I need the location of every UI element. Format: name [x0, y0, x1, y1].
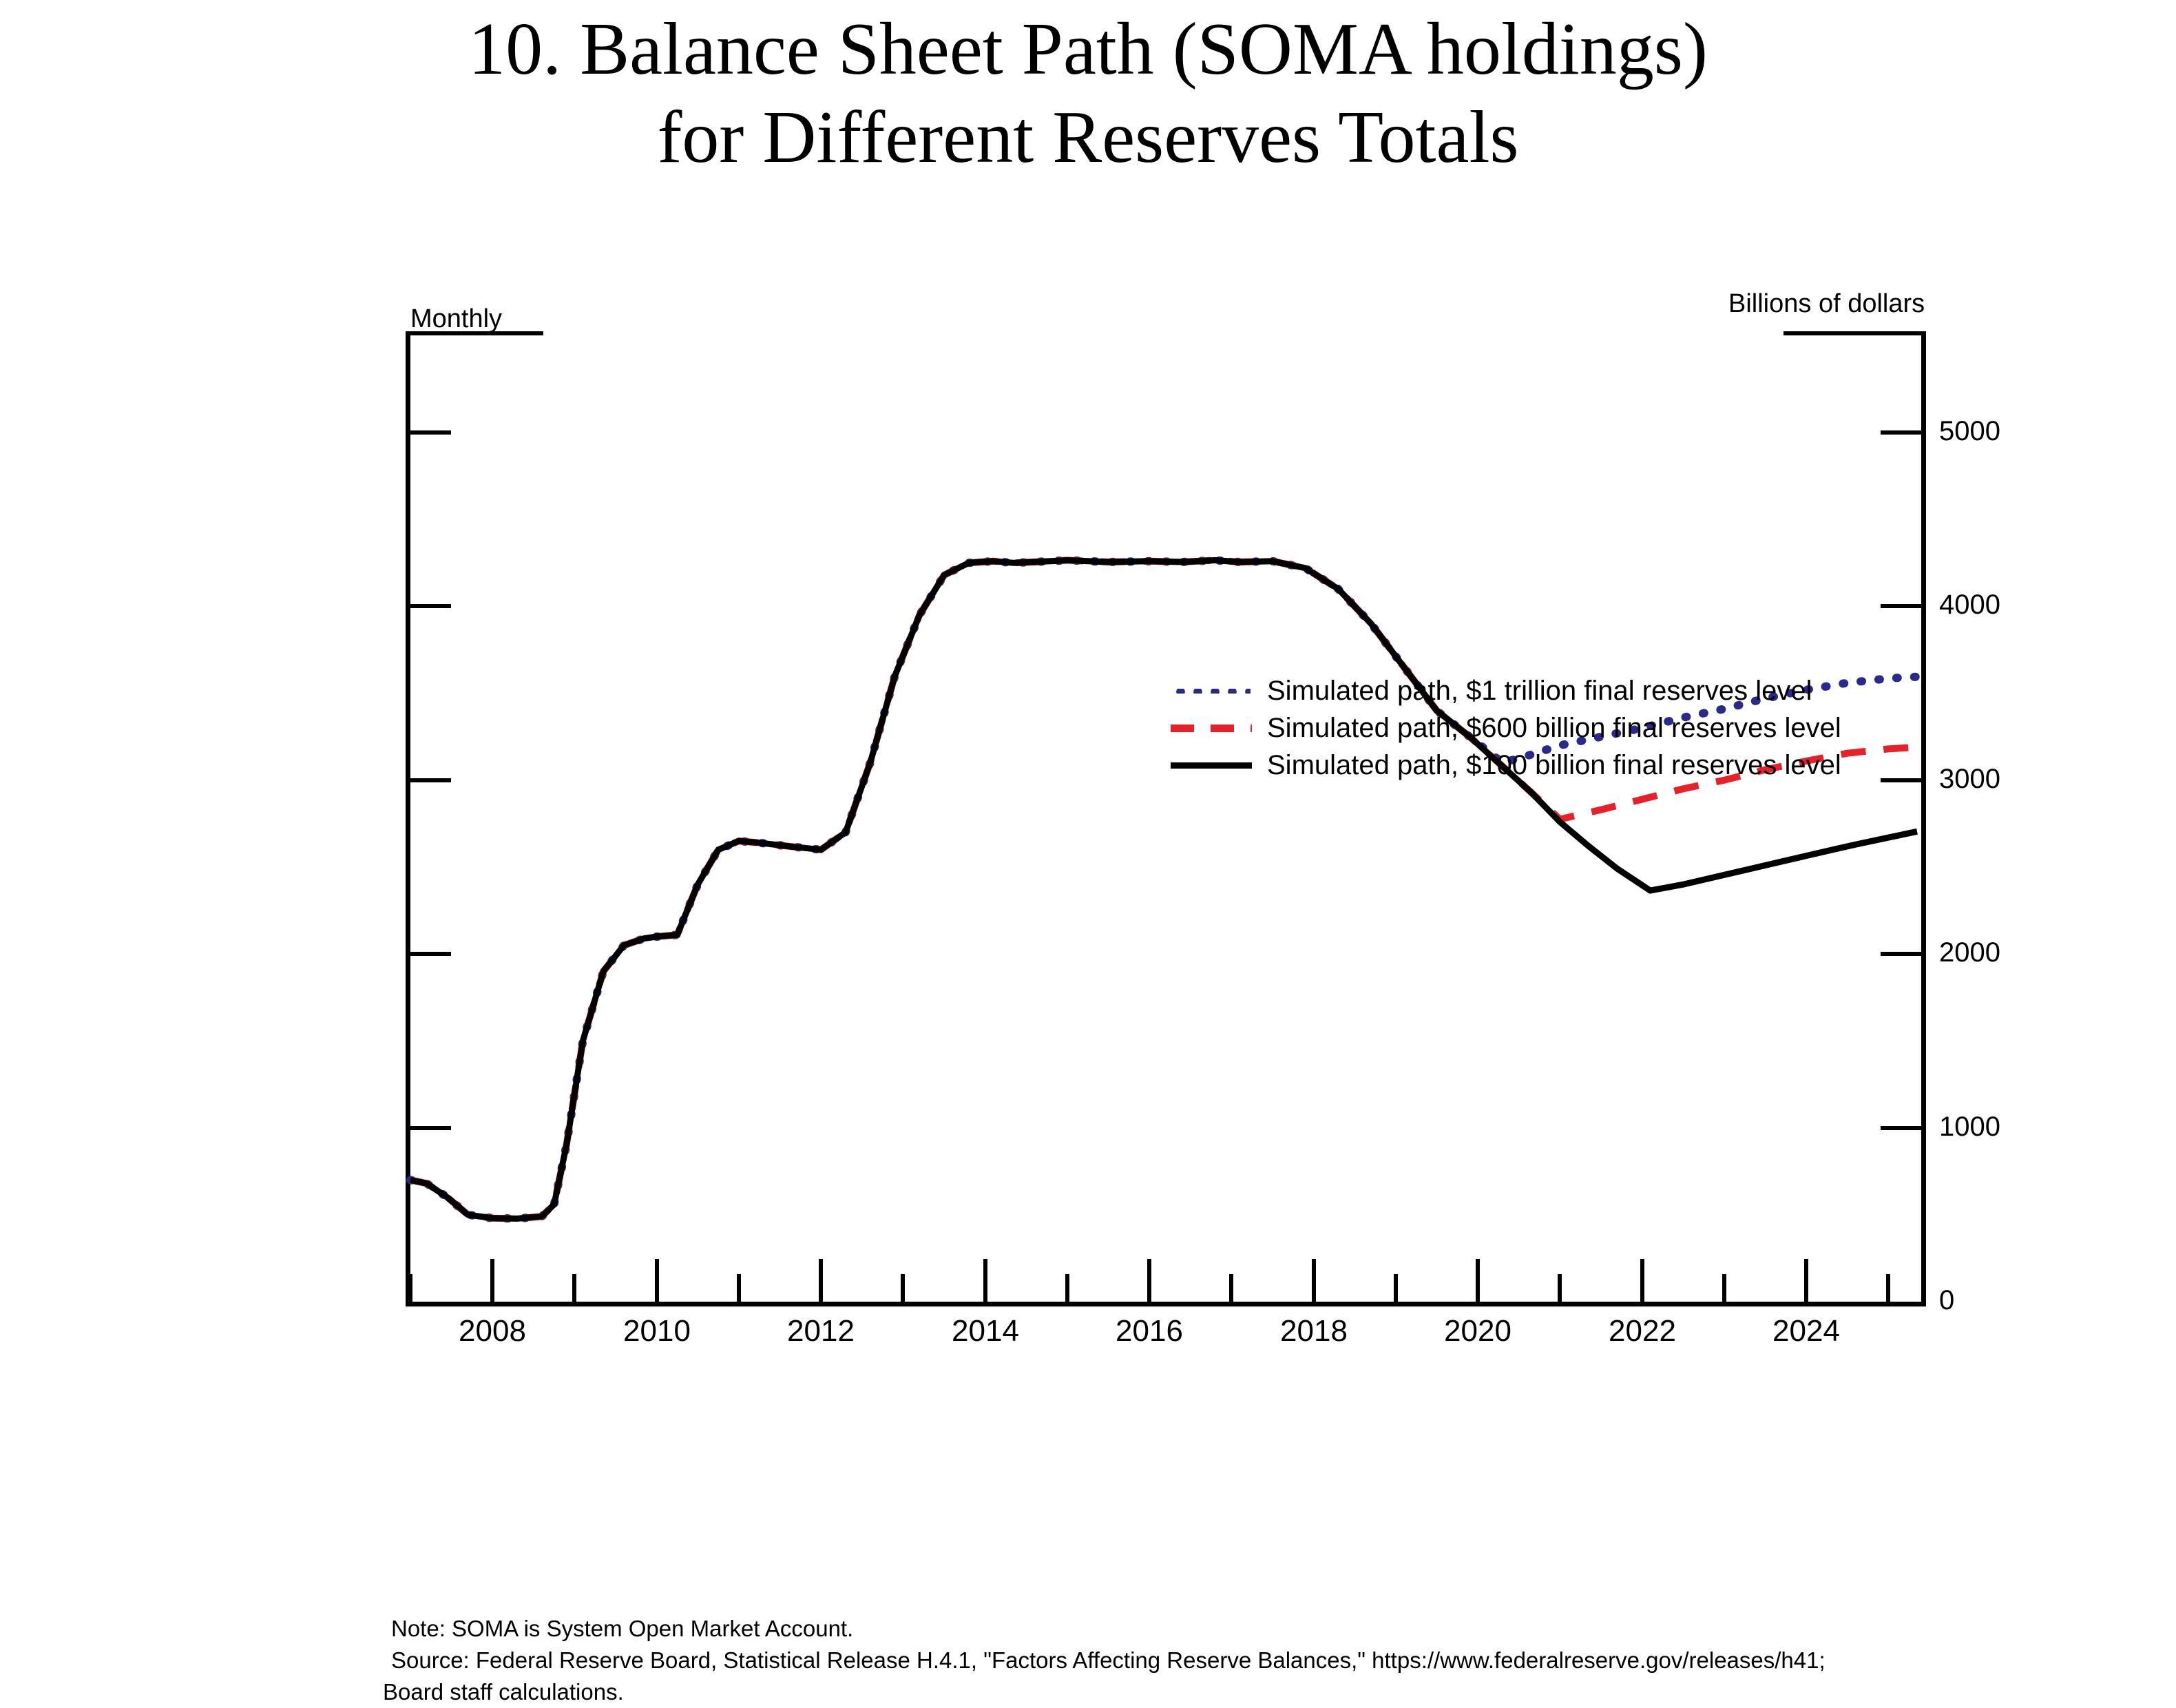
top-left-rule [406, 331, 543, 335]
y-tick-left [406, 604, 451, 608]
x-tick-major [490, 1259, 494, 1302]
y-tick-left [406, 430, 451, 435]
y-tick-left [406, 1126, 451, 1130]
legend-item-one-hundred: Simulated path, $100 billion final reser… [1171, 748, 1841, 782]
x-tick-label: 2008 [441, 1314, 544, 1348]
dotted-line-icon [1171, 682, 1252, 700]
x-tick-minor [737, 1274, 741, 1302]
y-tick-label: 1000 [1939, 1112, 2000, 1143]
x-tick-minor [1229, 1274, 1233, 1302]
legend-item-six-hundred: Simulated path, $600 billion final reser… [1171, 711, 1841, 745]
x-tick-minor [1558, 1274, 1562, 1302]
top-right-rule [1783, 331, 1926, 335]
x-tick-major [1640, 1259, 1644, 1302]
x-tick-label: 2020 [1426, 1314, 1529, 1348]
dashed-line-icon [1171, 719, 1252, 737]
y-tick-right [1881, 952, 1926, 956]
legend-label-six-hundred: Simulated path, $600 billion final reser… [1267, 714, 1841, 742]
source-line-continued: Board staff calculations. [383, 1676, 2104, 1708]
y-tick-label: 0 [1939, 1285, 1954, 1316]
x-tick-minor [1722, 1274, 1726, 1302]
series-line-2 [410, 561, 1917, 1219]
axes-group [406, 331, 1926, 1306]
x-tick-label: 2012 [769, 1314, 872, 1348]
x-tick-major [1476, 1259, 1480, 1302]
x-tick-label: 2018 [1262, 1314, 1366, 1348]
page-title: 10. Balance Sheet Path (SOMA holdings) f… [0, 6, 2176, 182]
x-tick-label: 2010 [605, 1314, 709, 1348]
x-tick-minor [572, 1274, 576, 1302]
slide-root: 10. Balance Sheet Path (SOMA holdings) f… [0, 0, 2176, 1439]
y-tick-label: 3000 [1939, 764, 2000, 795]
title-line-2: for Different Reserves Totals [0, 94, 2176, 182]
chart-notes: Note: SOMA is System Open Market Account… [383, 1613, 2104, 1708]
note-line: Note: SOMA is System Open Market Account… [383, 1613, 2104, 1645]
x-tick-label: 2022 [1591, 1314, 1694, 1348]
x-tick-major [819, 1259, 823, 1302]
chart-figure: Monthly Billions of dollars 010002000300… [0, 275, 2176, 1439]
solid-line-icon [1171, 756, 1252, 774]
y-tick-right [1881, 1126, 1926, 1130]
x-tick-label: 2024 [1755, 1314, 1858, 1348]
y-tick-left [406, 778, 451, 782]
y-tick-label: 4000 [1939, 590, 2000, 621]
y-tick-label: 2000 [1939, 937, 2000, 968]
x-tick-minor [1065, 1274, 1069, 1302]
series-line-0 [410, 561, 1917, 1219]
legend-label-trillion: Simulated path, $1 trillion final reserv… [1267, 677, 1812, 705]
x-tick-minor [1394, 1274, 1398, 1302]
x-tick-major [655, 1259, 659, 1302]
x-tick-minor [408, 1274, 412, 1302]
y-axis-left-spine [406, 331, 410, 1306]
x-tick-major [1804, 1259, 1808, 1302]
series-line-1 [410, 561, 1917, 1219]
x-tick-label: 2014 [934, 1314, 1037, 1348]
plot-area [0, 275, 2176, 1439]
title-line-1: 10. Balance Sheet Path (SOMA holdings) [0, 6, 2176, 94]
x-tick-major [983, 1259, 987, 1302]
y-tick-right [1881, 430, 1926, 435]
y-tick-right [1881, 604, 1926, 608]
x-axis-spine [406, 1302, 1926, 1306]
legend-item-trillion: Simulated path, $1 trillion final reserv… [1171, 674, 1841, 708]
series-group [410, 561, 1917, 1219]
y-axis-right-spine [1921, 331, 1926, 1306]
y-tick-label: 5000 [1939, 416, 2000, 447]
x-tick-minor [901, 1274, 905, 1302]
y-tick-right [1881, 778, 1926, 782]
x-tick-label: 2016 [1098, 1314, 1201, 1348]
y-tick-left [406, 952, 451, 956]
source-line: Source: Federal Reserve Board, Statistic… [383, 1645, 2104, 1676]
x-tick-major [1147, 1259, 1151, 1302]
x-tick-minor [1886, 1274, 1890, 1302]
chart-legend: Simulated path, $1 trillion final reserv… [1171, 674, 1841, 785]
x-tick-major [1312, 1259, 1316, 1302]
legend-label-one-hundred: Simulated path, $100 billion final reser… [1267, 751, 1841, 779]
